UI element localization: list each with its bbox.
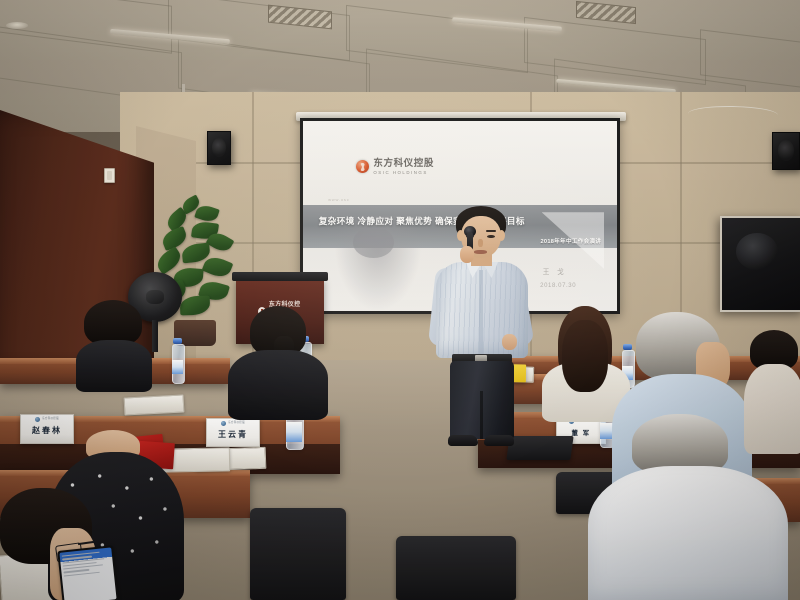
placard-brand: 东方科仪控股 xyxy=(42,418,59,421)
ear xyxy=(457,230,464,241)
slide-speaker-name: 王 戈 xyxy=(543,266,567,276)
cable xyxy=(688,105,778,124)
osic-logo-mark-icon xyxy=(35,417,40,422)
shirt-placket xyxy=(479,270,483,358)
slide-brand-cn: 东方科仪控股 xyxy=(373,159,434,169)
chair xyxy=(396,536,516,600)
slide-brand-en: OSIC HOLDINGS xyxy=(373,171,434,175)
osic-logo-mark-icon xyxy=(221,421,226,426)
placard-logo: 东方科仪控股 xyxy=(221,421,245,426)
slide-subtitle: 2018年年中工作会演讲 xyxy=(541,237,602,245)
nose xyxy=(478,239,483,247)
speaker-icon xyxy=(772,132,800,170)
attendee xyxy=(588,414,788,600)
ear xyxy=(498,230,505,241)
shoe xyxy=(448,435,478,446)
osic-logo-mark-icon xyxy=(356,160,369,173)
trouser-seam xyxy=(480,391,483,439)
slide-brand-logo: 东方科仪控股 OSIC HOLDINGS xyxy=(356,159,434,175)
chair xyxy=(250,508,346,600)
presenter xyxy=(430,206,534,452)
slide-website-url: www.osc xyxy=(328,197,349,202)
presenter-hand xyxy=(502,334,517,350)
speaker-icon xyxy=(207,131,231,165)
placard-logo: 东方科仪控股 xyxy=(35,417,59,422)
placard-name-text: 王云青 xyxy=(218,429,248,440)
mouth xyxy=(474,250,487,254)
placard-brand: 东方科仪控股 xyxy=(228,422,245,425)
tv-icon[interactable] xyxy=(720,216,800,312)
water-bottle xyxy=(172,338,184,382)
name-placard: 东方科仪控股 王云青 xyxy=(206,418,260,447)
light-switch-icon[interactable] xyxy=(104,168,115,183)
notebook xyxy=(124,394,185,415)
air-vent-icon xyxy=(576,1,636,24)
presenter-hand xyxy=(460,246,474,263)
attendee xyxy=(228,306,328,418)
slide-date: 2018.07.30 xyxy=(540,283,576,289)
recessed-light-icon xyxy=(6,22,28,29)
conference-room-photo: 东方科仪控股 OSIC HOLDINGS www.osc 复杂环境 冷静应对 聚… xyxy=(0,0,800,600)
shoe xyxy=(484,435,514,446)
phone-screen[interactable] xyxy=(59,547,116,600)
smartphone[interactable] xyxy=(57,545,119,600)
attendee xyxy=(76,300,152,390)
